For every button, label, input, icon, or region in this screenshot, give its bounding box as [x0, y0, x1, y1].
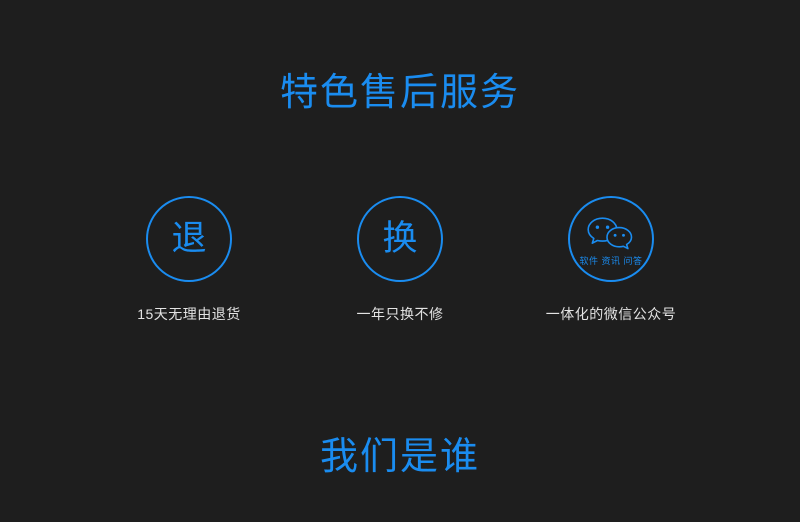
service-circle-exchange[interactable]: 换 [357, 196, 443, 282]
wechat-content: 软件 资讯 问答 [570, 198, 652, 280]
page-root: 特色售后服务 退 15天无理由退货 换 一年只换不修 [0, 0, 800, 522]
exchange-glyph-icon: 换 [382, 219, 417, 259]
wechat-icon [585, 215, 637, 253]
return-glyph-icon: 退 [171, 219, 206, 259]
page-title: 特色售后服务 [0, 68, 800, 118]
service-item-return[interactable]: 退 15天无理由退货 [89, 196, 289, 324]
service-circle-return[interactable]: 退 [146, 196, 232, 282]
service-caption: 一年只换不修 [300, 304, 500, 324]
service-caption: 15天无理由退货 [89, 304, 289, 324]
service-item-wechat[interactable]: 软件 资讯 问答 一体化的微信公众号 [511, 196, 711, 324]
bottom-section-title: 我们是谁 [0, 432, 800, 482]
service-circle-wechat[interactable]: 软件 资讯 问答 [568, 196, 654, 282]
services-row: 退 15天无理由退货 换 一年只换不修 [0, 196, 800, 336]
service-caption: 一体化的微信公众号 [511, 304, 711, 324]
wechat-tags-label: 软件 资讯 问答 [579, 255, 642, 267]
service-item-exchange[interactable]: 换 一年只换不修 [300, 196, 500, 324]
